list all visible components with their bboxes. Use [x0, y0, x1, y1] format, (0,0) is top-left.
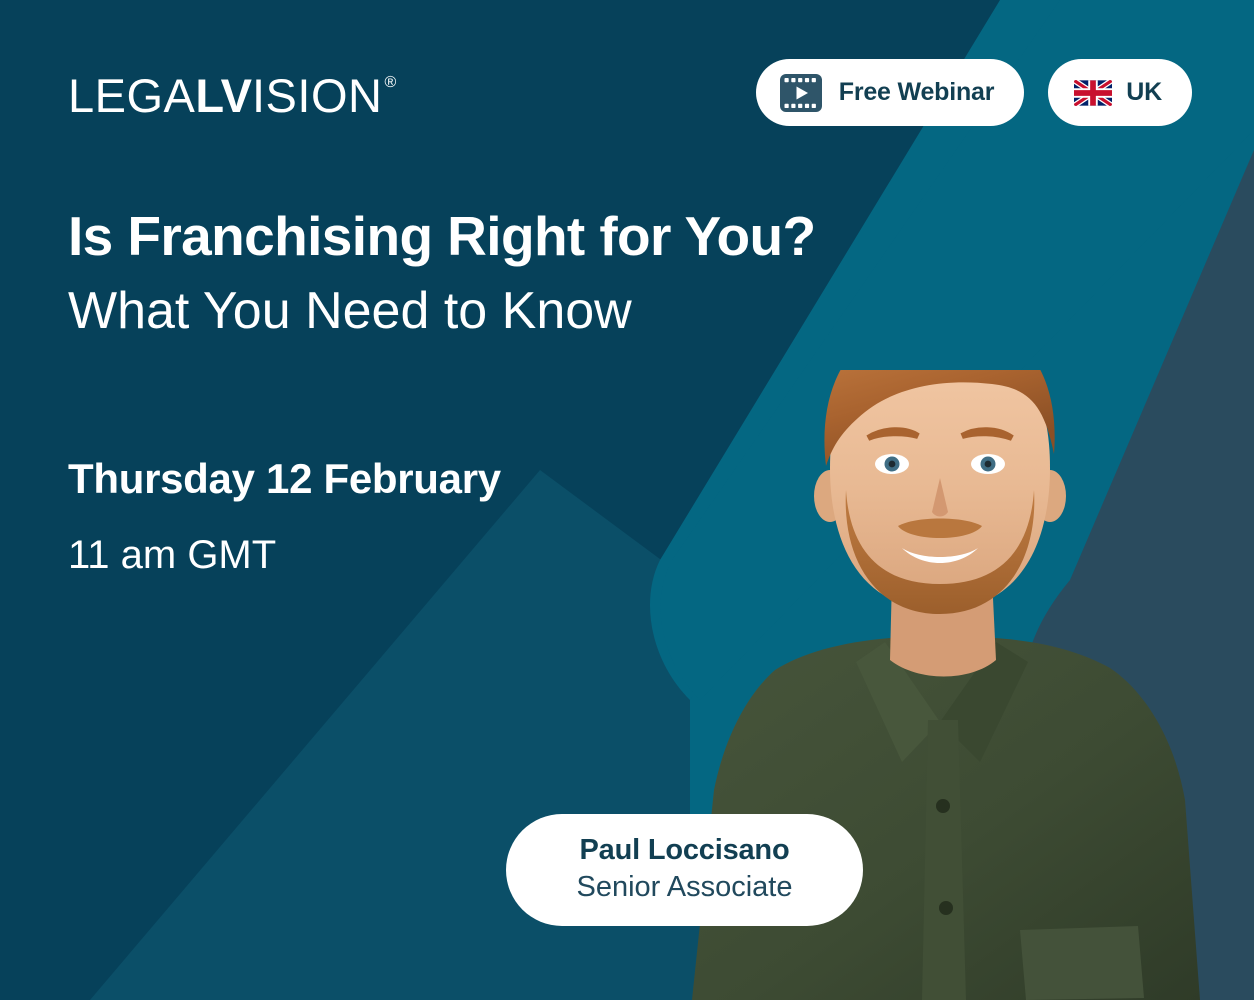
uk-region-badge[interactable]: UK: [1048, 59, 1192, 126]
logo-wordmark: LEGALVISION: [68, 72, 382, 119]
uk-flag-icon: [1074, 80, 1112, 106]
legalvision-logo[interactable]: LEGALVISION ®: [68, 72, 396, 119]
film-strip-play-icon: [780, 74, 822, 112]
speaker-role: Senior Associate: [576, 871, 792, 904]
free-webinar-label: Free Webinar: [839, 78, 995, 107]
badge-row: Free Webinar UK: [756, 59, 1192, 126]
headline-secondary: What You Need to Know: [68, 280, 816, 342]
event-date: Thursday 12 February: [68, 455, 501, 503]
event-time: 11 am GMT: [68, 531, 501, 579]
logo-text-bold-lv: LV: [195, 69, 252, 122]
uk-region-label: UK: [1126, 78, 1162, 107]
pupil-right: [985, 461, 992, 468]
headline-block: Is Franchising Right for You? What You N…: [68, 206, 816, 342]
free-webinar-badge[interactable]: Free Webinar: [756, 59, 1025, 126]
headline-primary: Is Franchising Right for You?: [68, 206, 816, 268]
registered-trademark-symbol: ®: [384, 75, 396, 91]
webinar-promo-graphic: LEGALVISION ®: [0, 0, 1254, 1000]
shirt-pocket: [1020, 926, 1144, 1000]
pupil-left: [889, 461, 896, 468]
event-datetime-block: Thursday 12 February 11 am GMT: [68, 455, 501, 579]
logo-text-part1: LEGA: [68, 69, 195, 122]
speaker-name-card: Paul Loccisano Senior Associate: [506, 814, 863, 926]
logo-text-part2: ISION: [252, 69, 382, 122]
shirt-button-1: [936, 799, 950, 813]
speaker-name: Paul Loccisano: [580, 835, 790, 867]
shirt-button-2: [939, 901, 953, 915]
